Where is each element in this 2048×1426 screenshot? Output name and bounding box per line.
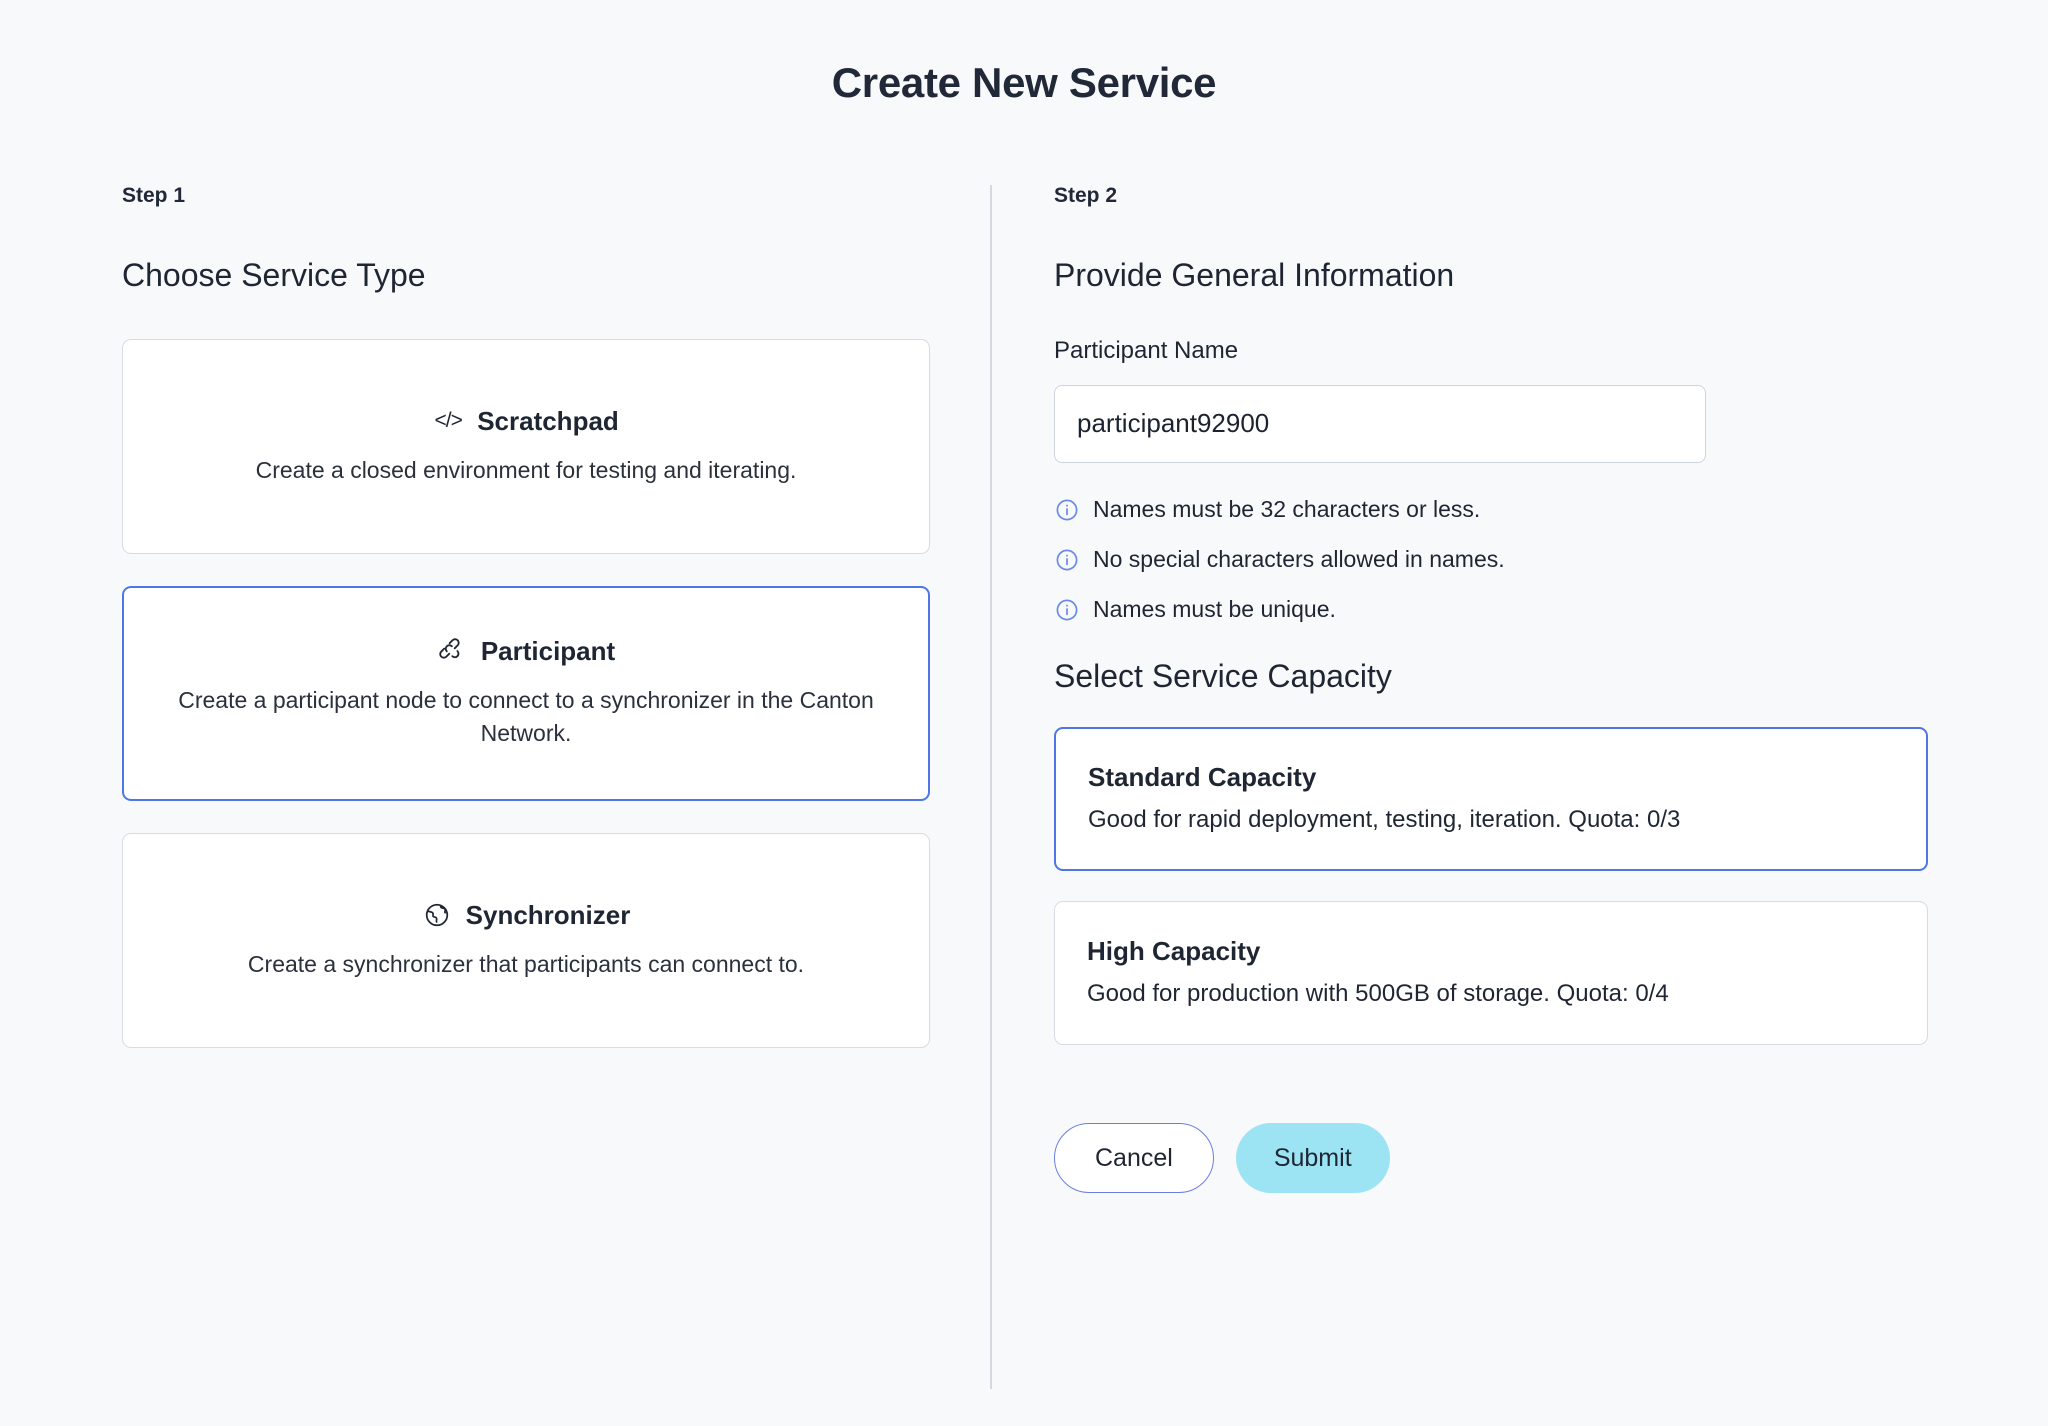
capacity-description: Good for rapid deployment, testing, iter…	[1088, 806, 1894, 835]
info-icon	[1054, 597, 1080, 623]
name-hints-list: Names must be 32 characters or less. No …	[1054, 497, 1928, 623]
service-type-card-synchronizer[interactable]: Synchronizer Create a synchronizer that …	[122, 833, 930, 1048]
capacity-title: High Capacity	[1087, 938, 1895, 964]
capacity-card-high[interactable]: High Capacity Good for production with 5…	[1054, 901, 1928, 1045]
form-actions: Cancel Submit	[1054, 1123, 1928, 1193]
capacity-description: Good for production with 500GB of storag…	[1087, 980, 1895, 1009]
page-title: Create New Service	[0, 0, 2048, 108]
create-service-page: Create New Service Step 1 Choose Service…	[0, 0, 2048, 1426]
capacity-card-standard[interactable]: Standard Capacity Good for rapid deploym…	[1054, 727, 1928, 871]
info-icon	[1054, 547, 1080, 573]
code-icon: </>	[433, 406, 463, 436]
step-1-label: Step 1	[122, 185, 930, 206]
service-type-card-header: </> Scratchpad	[433, 406, 619, 436]
step-2-column: Step 2 Provide General Information Parti…	[992, 185, 2048, 1193]
service-type-card-participant[interactable]: Participant Create a participant node to…	[122, 586, 930, 801]
capacity-title: Standard Capacity	[1088, 764, 1894, 790]
globe-icon	[422, 900, 452, 930]
service-type-card-header: Participant	[437, 636, 615, 666]
participant-name-label: Participant Name	[1054, 339, 1928, 363]
participant-name-input[interactable]	[1054, 385, 1706, 463]
service-type-card-header: Synchronizer	[422, 900, 631, 930]
link-icon	[437, 636, 467, 666]
cancel-button[interactable]: Cancel	[1054, 1123, 1214, 1193]
step-2-label: Step 2	[1054, 185, 1928, 206]
step-1-column: Step 1 Choose Service Type </> Scratchpa…	[0, 185, 990, 1079]
provide-general-information-heading: Provide General Information	[1054, 256, 1928, 294]
hint-text: Names must be unique.	[1093, 598, 1336, 621]
hint-text: Names must be 32 characters or less.	[1093, 498, 1480, 521]
choose-service-type-heading: Choose Service Type	[122, 256, 930, 294]
select-service-capacity-heading: Select Service Capacity	[1054, 657, 1928, 695]
service-type-card-scratchpad[interactable]: </> Scratchpad Create a closed environme…	[122, 339, 930, 554]
service-type-title: Synchronizer	[466, 902, 631, 928]
hint-item: Names must be 32 characters or less.	[1054, 497, 1928, 523]
hint-item: No special characters allowed in names.	[1054, 547, 1928, 573]
submit-button[interactable]: Submit	[1236, 1123, 1390, 1193]
hint-item: Names must be unique.	[1054, 597, 1928, 623]
service-type-title: Scratchpad	[477, 408, 619, 434]
service-type-description: Create a synchronizer that participants …	[248, 948, 804, 981]
service-type-description: Create a participant node to connect to …	[152, 684, 900, 751]
service-type-description: Create a closed environment for testing …	[256, 454, 797, 487]
two-column-layout: Step 1 Choose Service Type </> Scratchpa…	[0, 185, 2048, 1389]
service-type-title: Participant	[481, 638, 615, 664]
hint-text: No special characters allowed in names.	[1093, 548, 1505, 571]
info-icon	[1054, 497, 1080, 523]
